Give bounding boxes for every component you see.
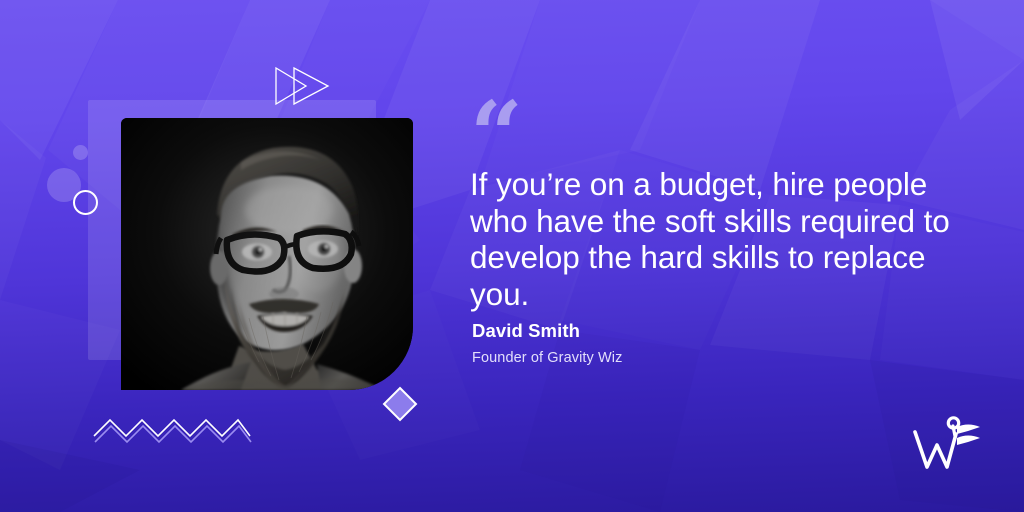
- attribution: David Smith Founder of Gravity Wiz: [472, 320, 932, 366]
- decor-diamond-icon: [381, 385, 419, 423]
- portrait-photo: [121, 118, 413, 390]
- gravity-wiz-logo-icon: [912, 416, 984, 474]
- quote-block: “ If you’re on a budget, hire people who…: [470, 112, 990, 312]
- decor-circle-small-icon: [73, 145, 88, 160]
- decor-zigzag-icon: [92, 412, 252, 448]
- attribution-role: Founder of Gravity Wiz: [472, 350, 932, 366]
- decor-circle-outline-icon: [73, 190, 98, 215]
- quote-text: If you’re on a budget, hire people who h…: [470, 166, 990, 312]
- attribution-name: David Smith: [472, 320, 932, 342]
- decor-triangles-icon: [272, 62, 334, 110]
- quote-card: “ If you’re on a budget, hire people who…: [0, 0, 1024, 512]
- quote-open-mark-icon: “: [470, 112, 990, 158]
